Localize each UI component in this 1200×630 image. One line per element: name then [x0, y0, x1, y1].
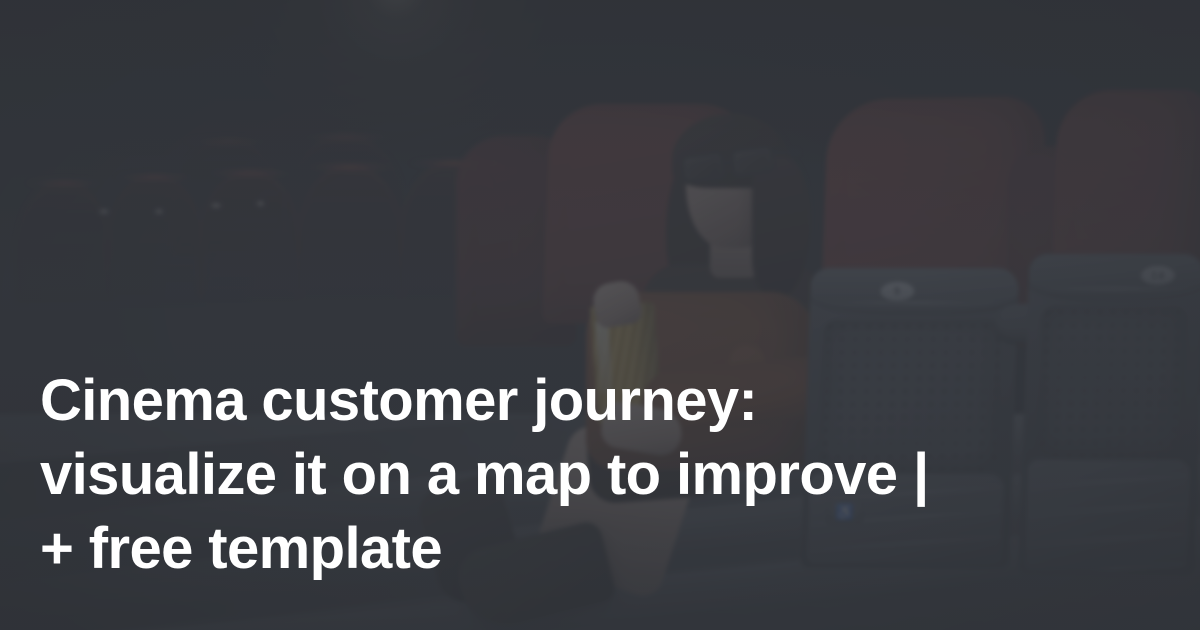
- headline-line-3: + free template: [40, 512, 1130, 586]
- headline-line-2: visualize it on a map to improve |: [40, 438, 1130, 512]
- headline-line-1: Cinema customer journey:: [40, 364, 1130, 438]
- content-area: Cinema customer journey: visualize it on…: [0, 0, 1200, 630]
- social-share-card: 9 14: [0, 0, 1200, 630]
- page-title: Cinema customer journey: visualize it on…: [40, 364, 1130, 586]
